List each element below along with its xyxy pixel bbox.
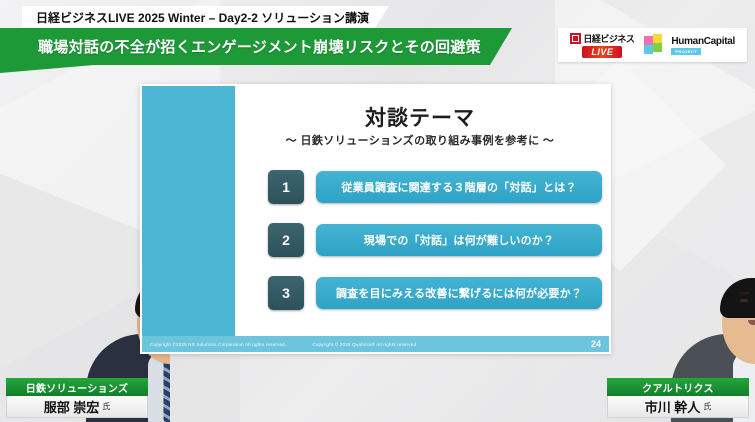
logo-strip: 日経ビジネス LIVE HumanCapital PROJECT xyxy=(558,28,747,62)
eyebrow xyxy=(739,292,750,294)
speaker-honorific: 氏 xyxy=(703,401,711,412)
event-tab: 日経ビジネスLIVE 2025 Winter – Day2-2 ソリューション講… xyxy=(22,6,389,28)
slide-page-number: 24 xyxy=(591,339,601,349)
nikkei-square-icon xyxy=(570,33,581,44)
slide-subtitle: ～ 日鉄ソリューションズの取り組み事例を参考に ～ xyxy=(240,132,600,148)
eye xyxy=(740,299,748,302)
speaker-org: クアルトリクス xyxy=(607,378,749,396)
topic-row: 3 調査を目にみえる改善に繋げるには何が必要か？ xyxy=(268,276,602,310)
topic-label: 従業員調査に関連する３階層の「対話」とは？ xyxy=(316,171,602,203)
nikkei-name: 日経ビジネス xyxy=(583,32,634,45)
speaker-name-row: 市川 幹人 氏 xyxy=(607,396,749,418)
speaker-org: 日鉄ソリューションズ xyxy=(6,378,148,396)
nameplate-right: クアルトリクス 市川 幹人 氏 xyxy=(607,378,749,418)
topic-label: 現場での「対話」は何が難しいのか？ xyxy=(316,224,602,256)
humancapital-name: HumanCapital xyxy=(671,36,735,47)
live-badge: LIVE xyxy=(582,46,622,58)
humancapital-wordmark: HumanCapital PROJECT xyxy=(671,36,735,55)
topic-number: 2 xyxy=(268,223,304,257)
copyright-right: Copyright © 2025 Qualtrics® All rights r… xyxy=(312,342,416,347)
hair xyxy=(720,278,755,318)
slide-footer: Copyright ©2025 NS Solutions Corporation… xyxy=(142,336,609,352)
slide-title: 対談テーマ xyxy=(240,102,600,132)
copyright-left: Copyright ©2025 NS Solutions Corporation… xyxy=(150,342,286,347)
speaker-name: 服部 崇宏 xyxy=(44,397,100,416)
topic-number: 3 xyxy=(268,276,304,310)
humancapital-sub: PROJECT xyxy=(671,48,701,55)
topic-number: 1 xyxy=(268,170,304,204)
webinar-stage: 対談テーマ ～ 日鉄ソリューションズの取り組み事例を参考に ～ 1 従業員調査に… xyxy=(0,0,755,422)
humancapital-cube-icon xyxy=(644,34,666,56)
speaker-honorific: 氏 xyxy=(102,401,110,412)
nikkei-wordmark: 日経ビジネス xyxy=(570,32,634,45)
speaker-name: 市川 幹人 xyxy=(645,397,701,416)
presentation-slide[interactable]: 対談テーマ ～ 日鉄ソリューションズの取り組み事例を参考に ～ 1 従業員調査に… xyxy=(140,84,611,354)
nameplate-left: 日鉄ソリューションズ 服部 崇宏 氏 xyxy=(6,378,148,418)
topic-row: 2 現場での「対話」は何が難しいのか？ xyxy=(268,223,602,257)
session-banner: 職場対話の不全が招くエンゲージメント崩壊リスクとその回避策 xyxy=(0,28,512,65)
event-tab-label: 日経ビジネスLIVE 2025 Winter – Day2-2 ソリューション講… xyxy=(36,9,369,26)
necktie xyxy=(164,360,171,422)
topic-row: 1 従業員調査に関連する３階層の「対話」とは？ xyxy=(268,170,602,204)
topic-label: 調査を目にみえる改善に繋げるには何が必要か？ xyxy=(316,277,602,309)
slide-accent-bar xyxy=(142,86,235,338)
session-title: 職場対話の不全が招くエンゲージメント崩壊リスクとその回避策 xyxy=(38,36,481,57)
nikkei-business-live-logo: 日経ビジネス LIVE xyxy=(570,32,634,58)
humancapital-logo: HumanCapital PROJECT xyxy=(644,34,735,56)
speaker-name-row: 服部 崇宏 氏 xyxy=(6,396,148,418)
